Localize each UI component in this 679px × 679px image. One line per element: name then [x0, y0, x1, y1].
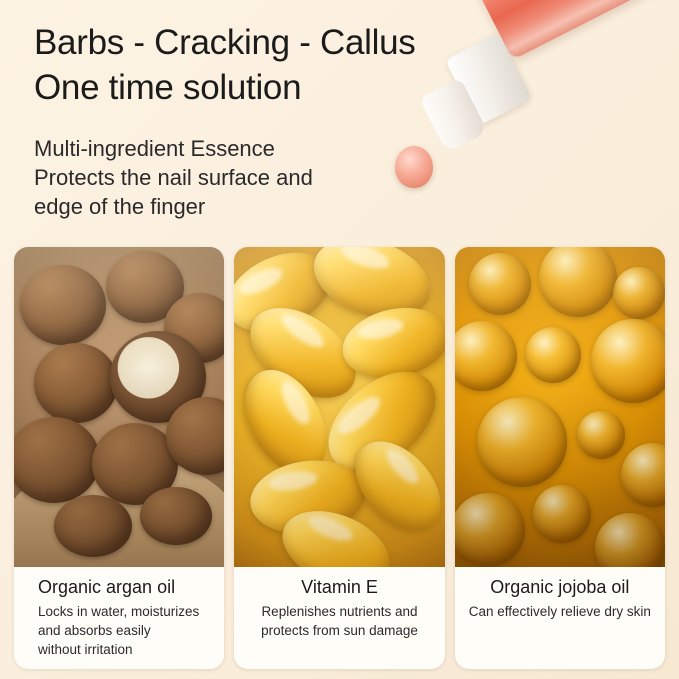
headline-line-1: Barbs - Cracking - Callus — [34, 20, 554, 65]
jojoba-oil-bubbles-photo — [455, 247, 665, 567]
vitamin-e-capsules-photo — [234, 247, 444, 567]
headline-line-2: One time solution — [34, 65, 554, 110]
card-caption: Vitamin E Replenishes nutrients and prot… — [234, 567, 444, 669]
macadamia-nuts-photo — [14, 247, 224, 567]
product-infographic: Barbs - Cracking - Callus One time solut… — [0, 0, 679, 679]
photo-shading-overlay — [234, 247, 444, 567]
ingredient-description: Can effectively relieve dry skin — [463, 602, 657, 621]
ingredient-card-argan-oil: Organic argan oil Locks in water, moistu… — [14, 247, 224, 669]
card-caption: Organic jojoba oil Can effectively relie… — [455, 567, 665, 669]
ingredient-card-vitamin-e: Vitamin E Replenishes nutrients and prot… — [234, 247, 444, 669]
ingredient-description: Replenishes nutrients and protects from … — [242, 602, 436, 640]
headline-block: Barbs - Cracking - Callus One time solut… — [34, 20, 554, 110]
ingredient-title: Organic jojoba oil — [463, 575, 657, 599]
ingredient-card-jojoba-oil: Organic jojoba oil Can effectively relie… — [455, 247, 665, 669]
ingredient-title: Vitamin E — [242, 575, 436, 599]
card-caption: Organic argan oil Locks in water, moistu… — [14, 567, 224, 669]
ingredient-card-row: Organic argan oil Locks in water, moistu… — [14, 247, 665, 669]
subheadline: Multi-ingredient Essence Protects the na… — [34, 134, 434, 221]
ingredient-title: Organic argan oil — [22, 575, 216, 599]
photo-shading-overlay — [14, 247, 224, 567]
photo-shading-overlay — [455, 247, 665, 567]
ingredient-description: Locks in water, moisturizes and absorbs … — [22, 602, 216, 659]
